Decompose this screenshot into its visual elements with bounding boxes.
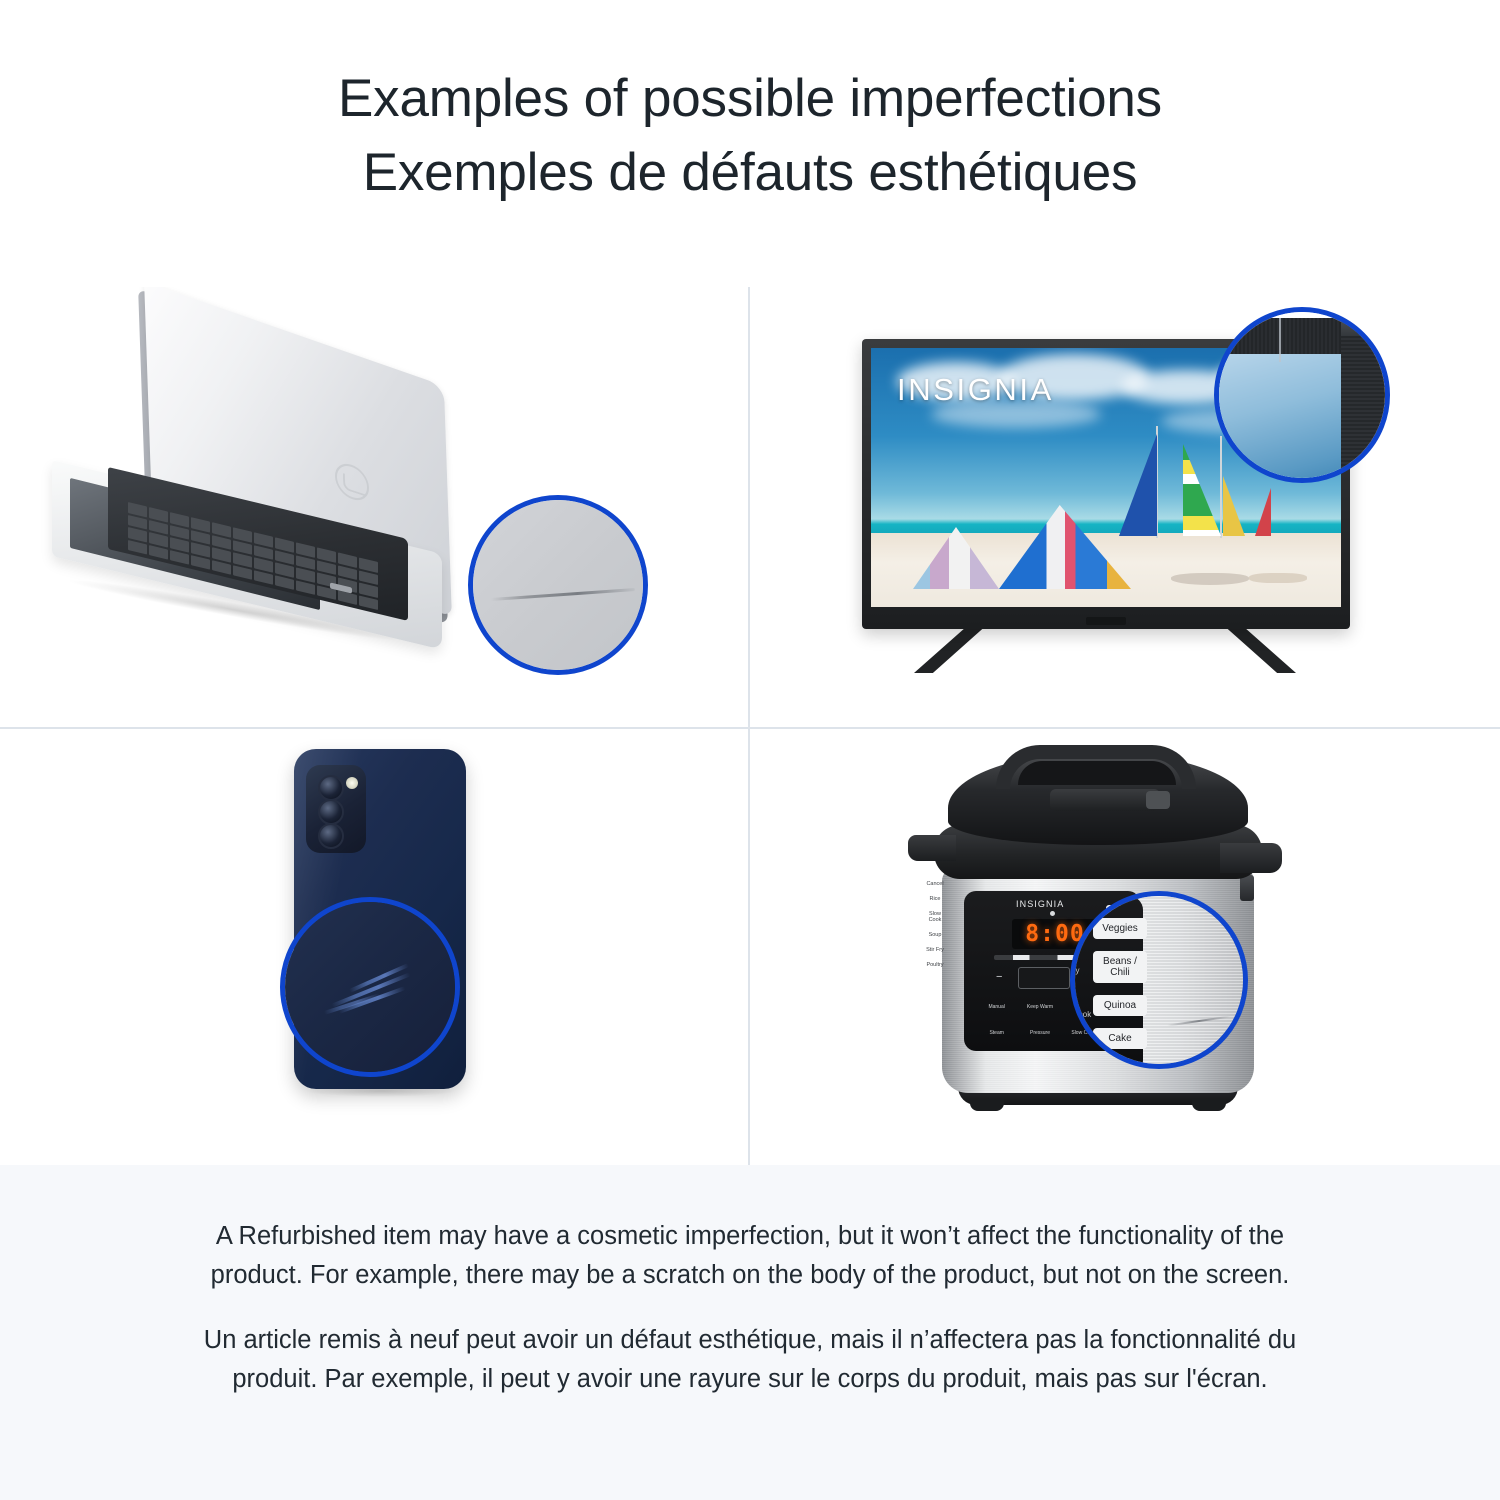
tv-illustration: INSIGNIA — [862, 307, 1392, 707]
page-footer: A Refurbished item may have a cosmetic i… — [0, 1165, 1500, 1500]
panel-pressure-cooker: INSIGNIA 8:00 − + Start Fish Dessert / V… — [750, 729, 1500, 1165]
cooker-button[interactable]: Cancel — [924, 881, 946, 887]
footer-paragraph-fr: Un article remis à neuf peut avoir un dé… — [185, 1321, 1315, 1399]
cooker-button[interactable]: Rice — [924, 896, 946, 902]
pressure-cooker-illustration: INSIGNIA 8:00 − + Start Fish Dessert / V… — [900, 743, 1330, 1153]
tv-foot-right — [1178, 625, 1296, 673]
magnifier-cooker-scratch: Veggies Beans / Chili Quinoa Cake Delay … — [1070, 891, 1248, 1069]
panel-tv: INSIGNIA — [750, 287, 1500, 727]
magnified-button-stack: Veggies Beans / Chili Quinoa Cake — [1093, 918, 1147, 1049]
cooker-button-label: Delay — [1070, 966, 1079, 975]
panel-phone — [0, 729, 748, 1165]
grid-divider-vertical — [748, 287, 750, 1165]
boat-hull — [1249, 573, 1307, 583]
cooker-button-column-left: Cancel Rice Slow Cook Soup Stir Fry Poul… — [924, 881, 946, 968]
cooker-button[interactable]: Steam — [978, 1023, 1015, 1043]
camera-lens-icon — [318, 799, 344, 825]
cooker-button[interactable]: Poultry — [924, 962, 946, 968]
magnified-bezel-corner — [1341, 318, 1387, 336]
laptop-illustration — [30, 327, 550, 687]
tv-foot-left — [914, 625, 1032, 673]
magnifier-phone-scuff — [280, 897, 460, 1077]
magnifier-laptop-scratch — [468, 495, 648, 675]
page-title-fr: Exemples de défauts esthétiques — [363, 136, 1138, 210]
examples-grid: INSIGNIA — [0, 287, 1500, 1165]
cooker-button[interactable]: Veggies — [1093, 918, 1147, 939]
tv-brand-logo: INSIGNIA — [897, 372, 1054, 408]
status-led-icon — [1050, 911, 1055, 916]
page-title-en: Examples of possible imperfections — [338, 62, 1162, 136]
cooker-lid-panel — [1050, 789, 1160, 811]
cooker-button[interactable]: Slow Cook — [924, 911, 946, 923]
cooker-button[interactable]: Beans / Chili — [1093, 951, 1147, 983]
magnified-lid-surface — [473, 500, 643, 670]
mode-select-button[interactable] — [1018, 967, 1070, 989]
decrease-button[interactable]: − — [996, 971, 1002, 983]
boat-hull — [1171, 573, 1249, 585]
camera-lens-icon — [318, 775, 344, 801]
cooker-foot — [1192, 1099, 1226, 1111]
cooker-button[interactable]: Stir Fry — [924, 947, 946, 953]
cooker-steam-valve — [1146, 791, 1170, 809]
phone-illustration — [250, 749, 510, 1129]
page-header: Examples of possible imperfections Exemp… — [0, 0, 1500, 287]
panel-laptop — [0, 287, 748, 727]
cooker-side-handle — [908, 835, 956, 861]
camera-flash-icon — [346, 777, 358, 789]
cooker-button[interactable]: Cake — [1093, 1028, 1147, 1049]
cooker-brand-logo: INSIGNIA — [1016, 899, 1064, 909]
tv-bottom-badge — [1086, 617, 1126, 625]
camera-module — [306, 765, 366, 853]
cooker-button[interactable]: Manual — [978, 997, 1015, 1017]
cooker-foot — [970, 1099, 1004, 1111]
magnifier-tv-scratch — [1214, 307, 1390, 483]
cooker-lid-handle-inner — [1018, 761, 1176, 785]
camera-lens-icon — [318, 823, 344, 849]
refurbished-imperfections-infographic: Examples of possible imperfections Exemp… — [0, 0, 1500, 1500]
grid-divider-horizontal — [0, 727, 1500, 729]
footer-paragraph-en: A Refurbished item may have a cosmetic i… — [185, 1217, 1315, 1295]
scratch-mark — [1279, 318, 1281, 362]
cooker-button[interactable]: Quinoa — [1093, 995, 1147, 1016]
cooker-button[interactable]: Soup — [924, 932, 946, 938]
cooker-button[interactable]: Pressure — [1021, 1023, 1058, 1043]
magnified-screen-area — [1214, 350, 1347, 483]
cooker-button[interactable]: Keep Warm — [1021, 997, 1058, 1017]
cooker-side-handle — [1220, 843, 1282, 873]
magnified-bezel-right — [1341, 318, 1387, 483]
